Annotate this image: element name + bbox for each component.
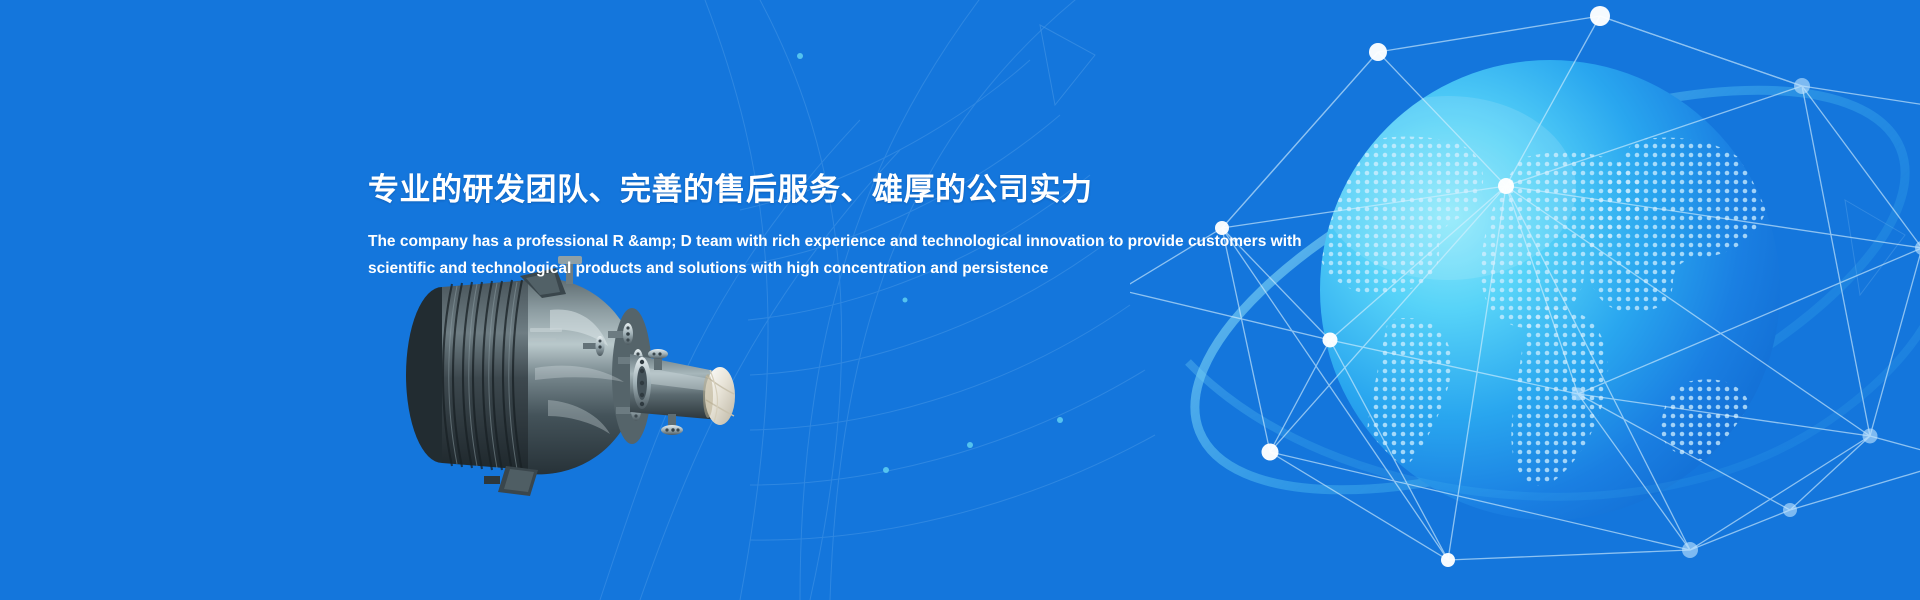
vessel-jacket: [406, 280, 530, 471]
chemical-reactor-vessel-photo: [380, 250, 760, 500]
hero-text-block: 专业的研发团队、完善的售后服务、雄厚的公司实力 The company has …: [368, 170, 1328, 283]
network-globe-graphic: [1130, 0, 1920, 600]
page-title: 专业的研发团队、完善的售后服务、雄厚的公司实力: [368, 170, 1328, 210]
hero-subtitle-line-1: The company has a professional R &amp; D…: [368, 228, 1180, 255]
hero-banner: 专业的研发团队、完善的售后服务、雄厚的公司实力 The company has …: [0, 0, 1920, 600]
vessel-support-bracket: [484, 466, 538, 496]
hero-subtitle-line-2: scientific and technological products an…: [368, 255, 1180, 282]
hero-subtitle: The company has a professional R &amp; D…: [368, 228, 1180, 282]
